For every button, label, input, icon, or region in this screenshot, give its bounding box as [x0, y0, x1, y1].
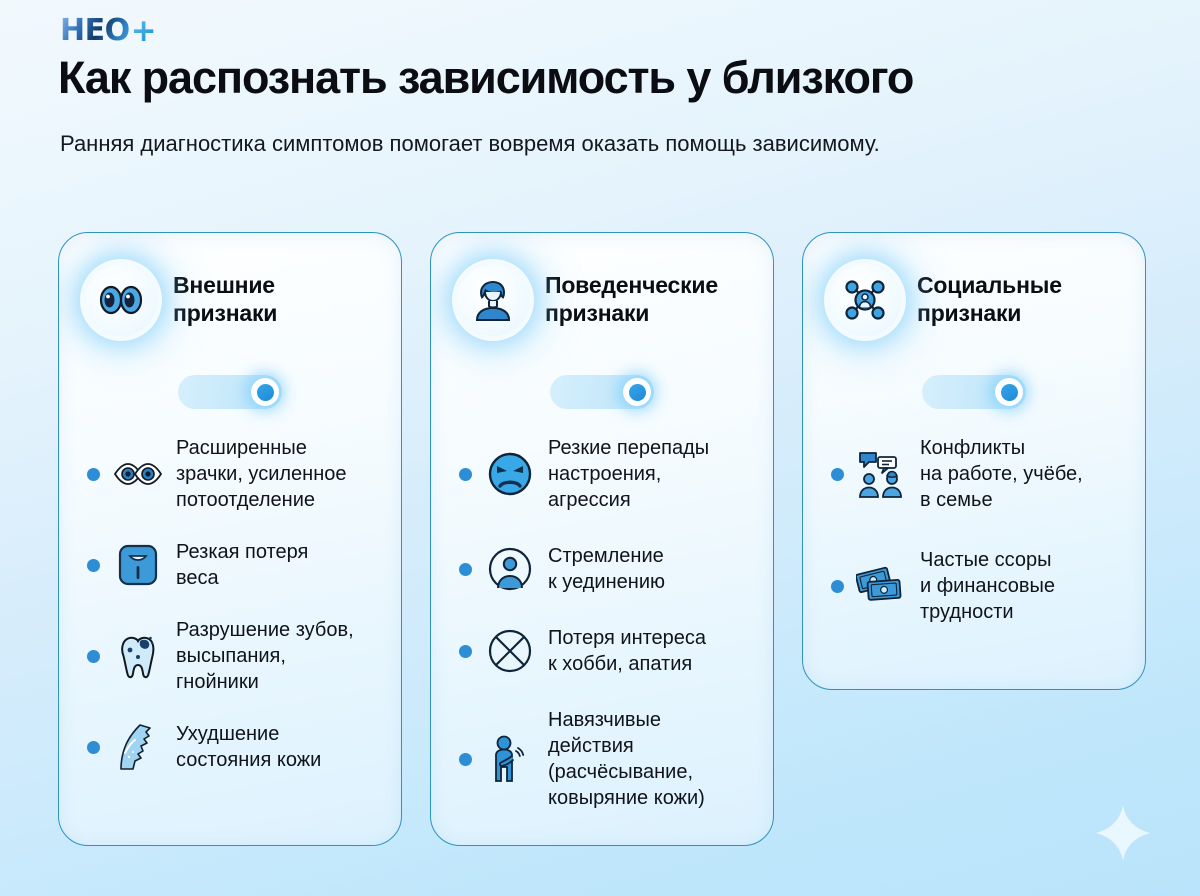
bullet-dot — [459, 645, 472, 658]
list-item: Ухудшение состояния кожи — [87, 721, 375, 773]
decayed-tooth-icon — [112, 630, 164, 682]
toggle-knob — [995, 378, 1023, 406]
list-item-text: Частые ссоры и финансовые трудности — [920, 547, 1055, 625]
bullet-dot — [87, 650, 100, 663]
card-social-signs: Социальные признаки — [802, 232, 1146, 690]
card-toggle-switch[interactable] — [922, 375, 1026, 409]
card-external-signs: Внешние признаки — [58, 232, 402, 846]
banknotes-icon — [856, 560, 908, 612]
signs-list: Расширенные зрачки, усиленное потоотделе… — [81, 435, 379, 773]
card-title: Социальные признаки — [917, 272, 1062, 327]
face-skin-icon — [112, 721, 164, 773]
eyes-icon — [85, 264, 157, 336]
list-item: Потеря интереса к хобби, апатия — [459, 625, 747, 677]
list-item: Навязчивые действия (расчёсывание, ковыр… — [459, 707, 747, 811]
card-title: Поведенческие признаки — [545, 272, 718, 327]
bullet-dot — [459, 753, 472, 766]
card-header: Социальные признаки — [825, 259, 1123, 341]
bullet-dot — [459, 468, 472, 481]
card-title: Внешние признаки — [173, 272, 277, 327]
bullet-dot — [87, 741, 100, 754]
card-header: Внешние признаки — [81, 259, 379, 341]
bullet-dot — [459, 563, 472, 576]
list-item-text: Потеря интереса к хобби, апатия — [548, 625, 706, 677]
list-item: Конфликты на работе, учёбе, в семье — [831, 435, 1119, 513]
card-header: Поведенческие признаки — [453, 259, 751, 341]
eyes-dilated-pupils-icon — [112, 448, 164, 500]
list-item-text: Резкая потеря веса — [176, 539, 308, 591]
person-scratching-icon — [484, 733, 536, 785]
signs-list: Конфликты на работе, учёбе, в семье — [825, 435, 1123, 625]
list-item-text: Навязчивые действия (расчёсывание, ковыр… — [548, 707, 705, 811]
brand-logo: НЕО + — [60, 14, 157, 48]
toggle-row — [453, 375, 751, 409]
card-behavioral-signs: Поведенческие признаки Резкие перепады — [430, 232, 774, 846]
list-item: Расширенные зрачки, усиленное потоотделе… — [87, 435, 375, 513]
person-avatar-icon — [457, 264, 529, 336]
list-item-text: Разрушение зубов, высыпания, гнойники — [176, 617, 354, 695]
page-subtitle: Ранняя диагностика симптомов помогает во… — [60, 128, 880, 160]
list-item: Резкие перепады настроения, агрессия — [459, 435, 747, 513]
list-item-text: Стремление к уединению — [548, 543, 665, 595]
list-item-text: Ухудшение состояния кожи — [176, 721, 321, 773]
bullet-dot — [831, 468, 844, 481]
angry-face-icon — [484, 448, 536, 500]
list-item: Стремление к уединению — [459, 543, 747, 595]
list-item-text: Конфликты на работе, учёбе, в семье — [920, 435, 1083, 513]
list-item-text: Резкие перепады настроения, агрессия — [548, 435, 709, 513]
toggle-row — [825, 375, 1123, 409]
card-toggle-switch[interactable] — [178, 375, 282, 409]
person-circle-icon — [484, 543, 536, 595]
bullet-dot — [831, 580, 844, 593]
list-item-text: Расширенные зрачки, усиленное потоотделе… — [176, 435, 347, 513]
list-item: Частые ссоры и финансовые трудности — [831, 547, 1119, 625]
brand-logo-plus: + — [131, 16, 157, 47]
brand-logo-text: НЕО — [60, 16, 130, 46]
list-item: Резкая потеря веса — [87, 539, 375, 591]
people-conflict-icon — [856, 448, 908, 500]
page-title: Как распознать зависимость у близкого — [58, 54, 913, 102]
cards-container: Внешние признаки — [58, 232, 1148, 846]
card-toggle-switch[interactable] — [550, 375, 654, 409]
toggle-knob — [623, 378, 651, 406]
bullet-dot — [87, 559, 100, 572]
bullet-dot — [87, 468, 100, 481]
list-item: Разрушение зубов, высыпания, гнойники — [87, 617, 375, 695]
toggle-row — [81, 375, 379, 409]
social-network-icon — [829, 264, 901, 336]
crossed-circle-icon — [484, 625, 536, 677]
signs-list: Резкие перепады настроения, агрессия Стр… — [453, 435, 751, 811]
toggle-knob — [251, 378, 279, 406]
weight-scale-icon — [112, 539, 164, 591]
